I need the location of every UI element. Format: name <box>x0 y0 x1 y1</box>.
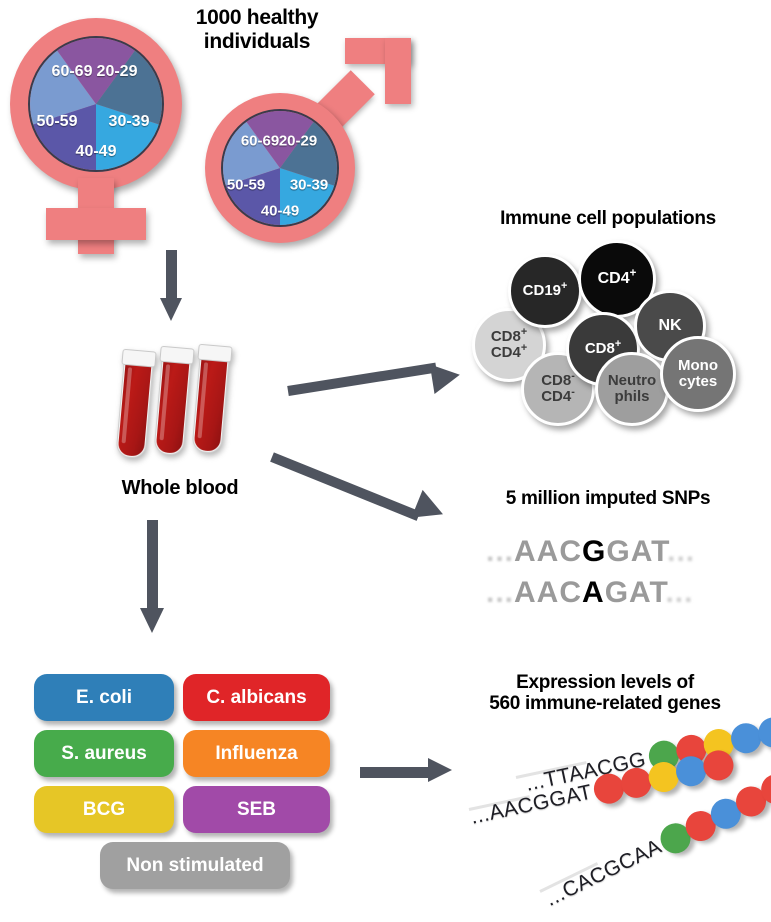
expression-strands-group: ...TTAACGG ...AACGGAT ...CACGCAA <box>0 0 771 922</box>
bead-blue <box>673 754 709 790</box>
bead-red <box>700 748 736 784</box>
figure-canvas: 1000 healthyindividuals 20-29 30-39 40-4… <box>0 0 771 922</box>
bead-red <box>618 765 654 801</box>
strand-sequence-3: ...CACGCAA <box>542 835 666 912</box>
bead-red <box>591 771 627 807</box>
bead-yellow <box>646 759 682 795</box>
